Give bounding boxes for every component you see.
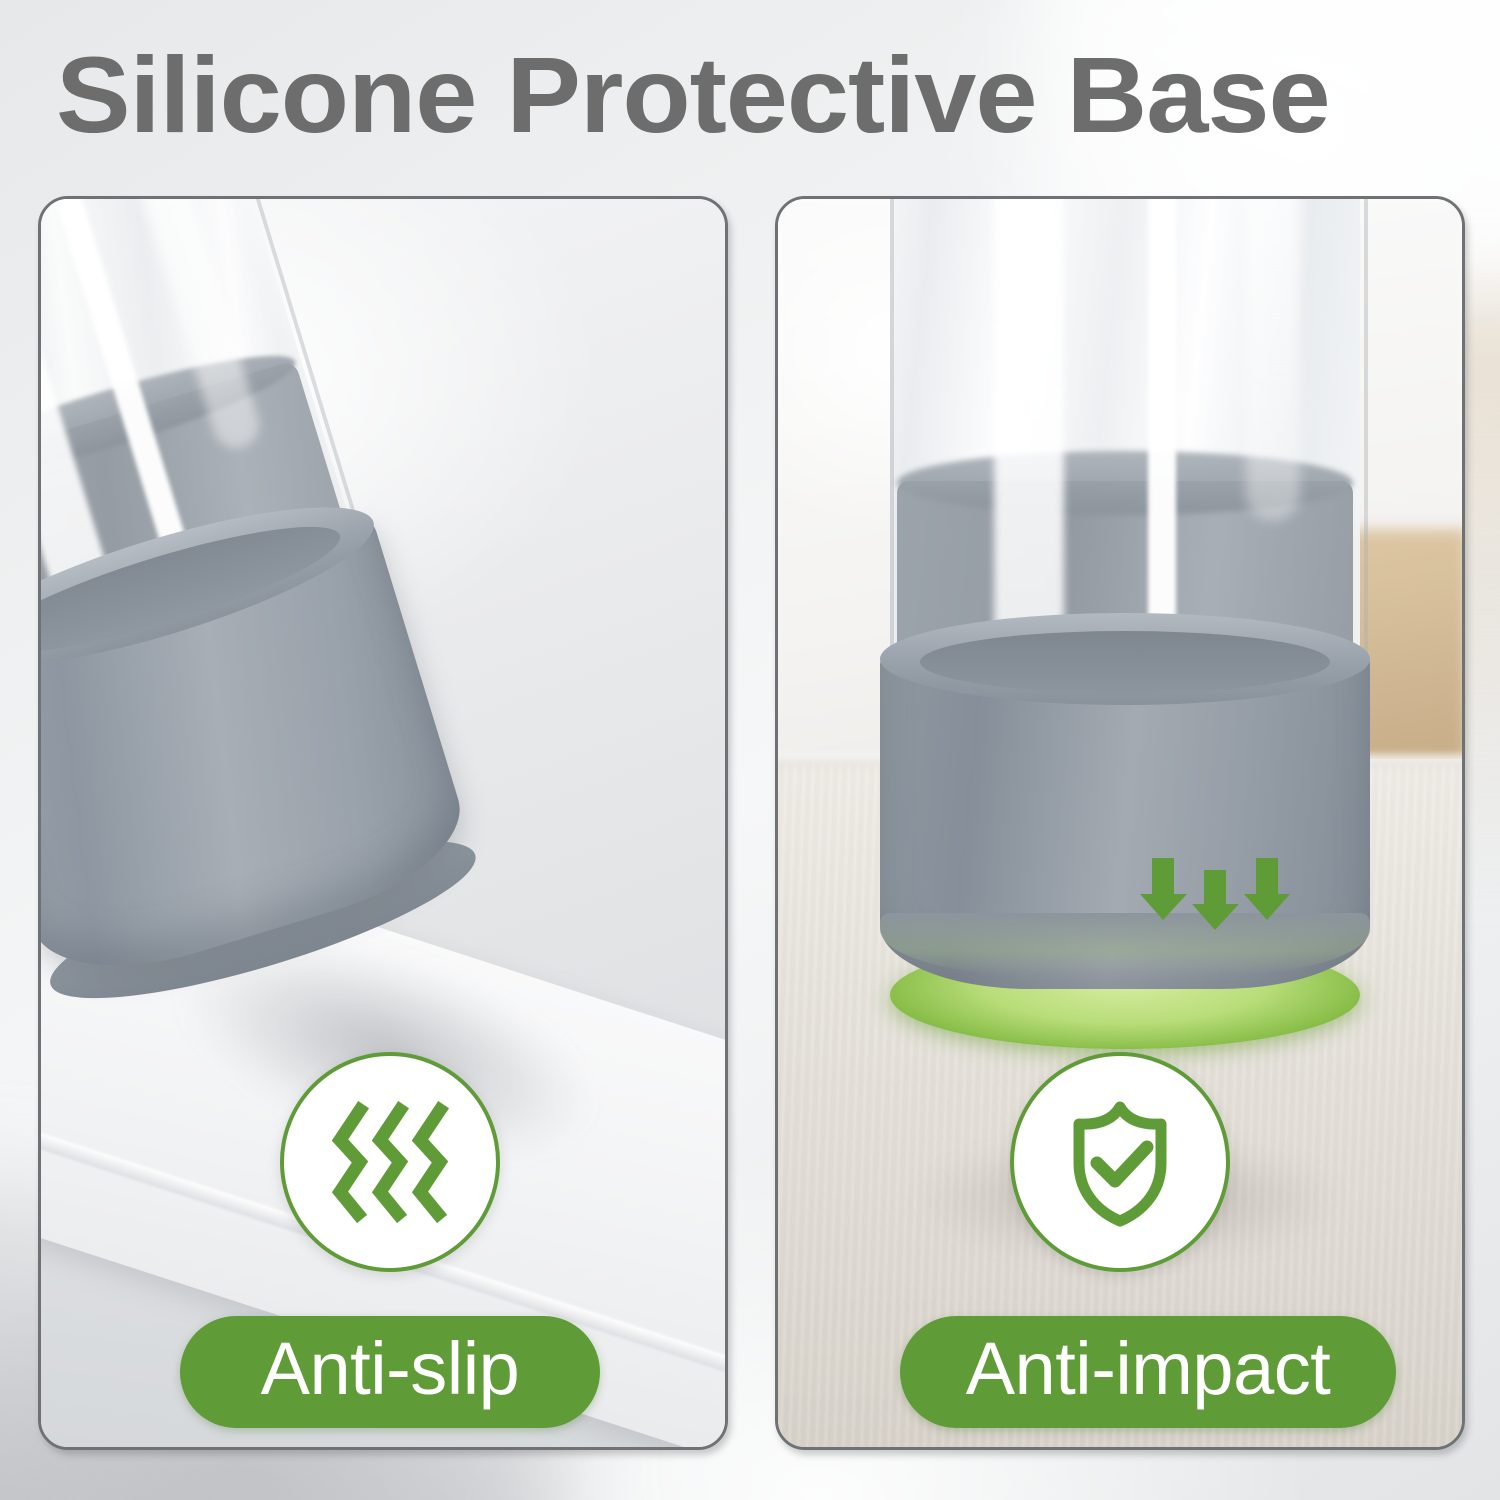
anti-impact-icon-circle [1010,1052,1230,1272]
wavy-line-2 [380,1110,400,1214]
silicone-base-glow-blend [880,913,1370,975]
anti-slip-label: Anti-slip [180,1316,600,1428]
wavy-line-1 [340,1110,360,1214]
wavy-grip-lines-icon [326,1098,454,1226]
shield-check-icon [1053,1095,1187,1229]
feature-badge-anti-slip[interactable]: Anti-slip [170,1052,610,1428]
marketing-graphic-root: Silicone Protective Base [0,0,1500,1500]
upright-bottle [890,199,1360,1003]
impact-arrows-group [1140,858,1290,938]
anti-slip-icon-circle [280,1052,500,1272]
silicone-base-inner-opening [920,631,1330,693]
wavy-line-3 [420,1110,440,1214]
anti-impact-label: Anti-impact [900,1316,1396,1428]
impact-arrow-center [1192,870,1239,930]
impact-arrows-icon [1140,858,1290,938]
impact-arrow-right [1244,858,1290,920]
feature-badge-anti-impact[interactable]: Anti-impact [900,1052,1340,1428]
check-mark [1097,1147,1147,1181]
impact-arrow-left [1140,858,1187,920]
